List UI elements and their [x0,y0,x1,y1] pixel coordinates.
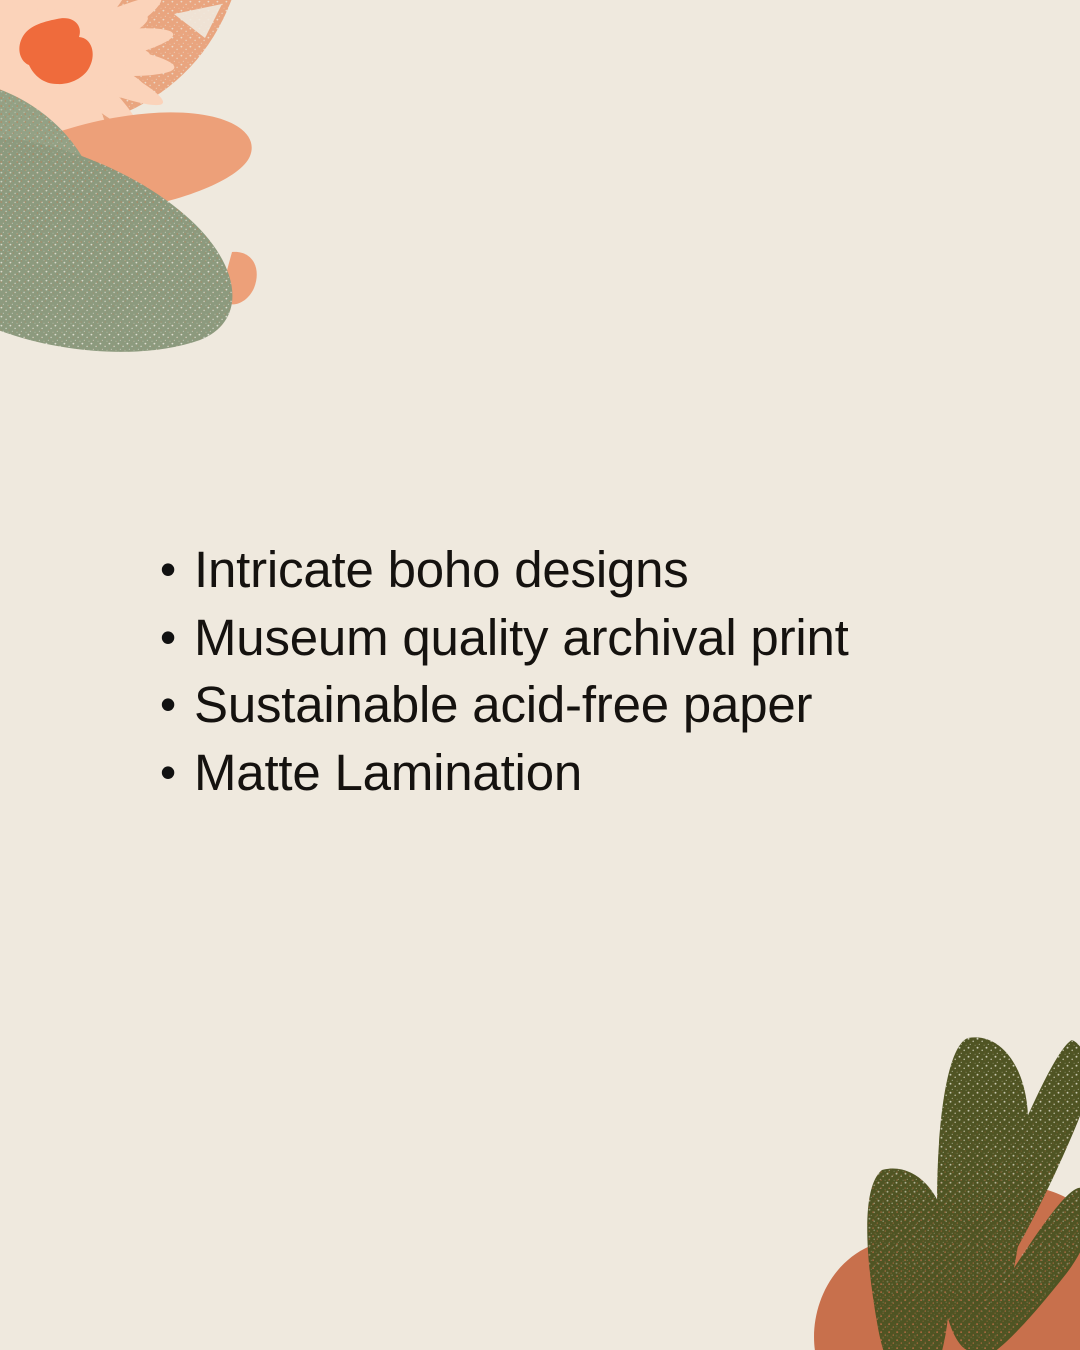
bullet-icon: • [160,604,194,672]
list-item-label: Sustainable acid-free paper [194,671,812,739]
daisy-center [19,18,92,84]
poster-canvas: • Intricate boho designs • Museum qualit… [0,0,1080,1350]
list-item: • Matte Lamination [160,739,1000,807]
top-left-floral-decoration [0,0,300,360]
feature-list: • Intricate boho designs • Museum qualit… [160,536,1000,806]
list-item-label: Matte Lamination [194,739,582,807]
olive-leaf-right-upper [950,1028,1080,1328]
bullet-icon: • [160,536,194,604]
olive-leaf-left [855,1155,965,1350]
peach-sliver [220,252,257,305]
list-item-label: Intricate boho designs [194,536,689,604]
list-item: • Museum quality archival print [160,604,1000,672]
list-item: • Intricate boho designs [160,536,1000,604]
daisy-outer-disc [0,0,270,150]
peach-leaf [0,103,257,229]
daisy-petals [0,0,176,169]
sage-leaf-wide [0,120,270,360]
list-item: • Sustainable acid-free paper [160,671,1000,739]
bottom-right-botanical-decoration [760,1010,1080,1350]
bullet-icon: • [160,739,194,807]
sage-leaf-upright [0,60,140,320]
daisy-petal-gaps [0,0,222,152]
bullet-icon: • [160,671,194,739]
olive-leaf-tall [925,1025,1045,1350]
terracotta-blob [814,1185,1080,1350]
olive-leaf-right-lower [955,1178,1080,1350]
list-item-label: Museum quality archival print [194,604,849,672]
